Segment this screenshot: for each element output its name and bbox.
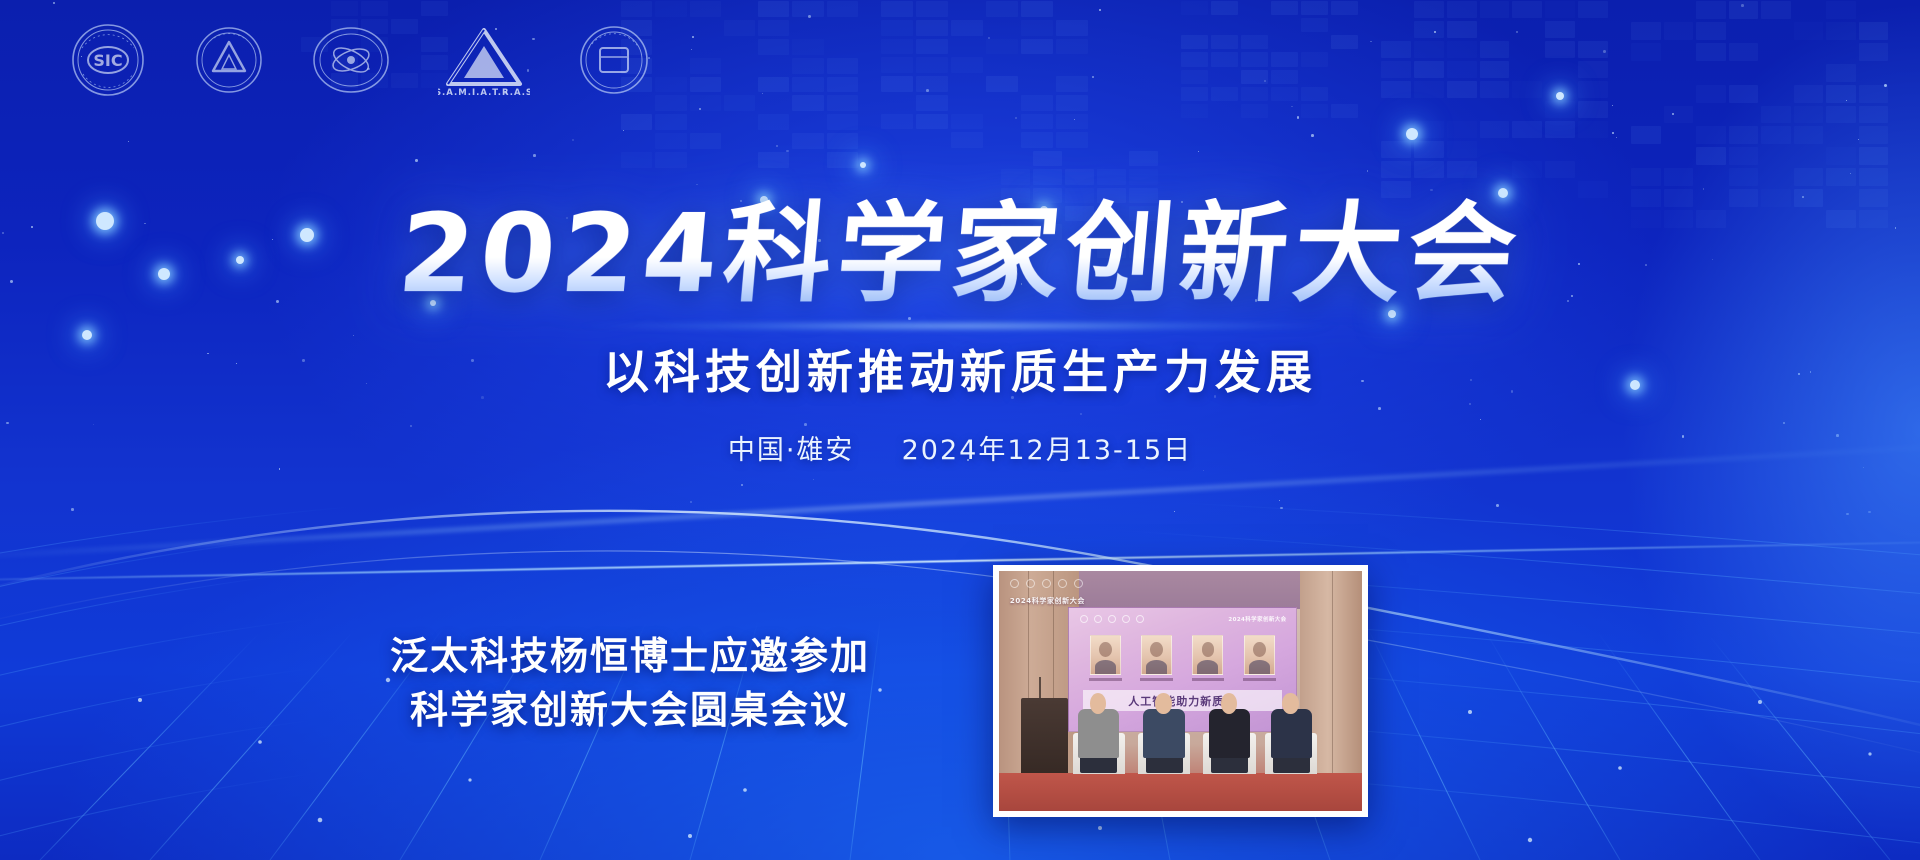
panelist-portrait bbox=[1090, 635, 1121, 675]
data-block bbox=[1729, 1, 1759, 19]
event-location: 中国·雄安 bbox=[728, 435, 855, 466]
data-block bbox=[1447, 81, 1477, 98]
data-block bbox=[1826, 106, 1856, 124]
light-particle bbox=[860, 162, 866, 168]
star-particle bbox=[1280, 507, 1282, 509]
star-particle bbox=[1297, 116, 1299, 118]
data-block bbox=[1480, 81, 1510, 98]
sic-emblem: SIC bbox=[70, 22, 146, 98]
panelist-card bbox=[1136, 635, 1177, 691]
head bbox=[1155, 693, 1171, 714]
panelist-card bbox=[1187, 635, 1228, 691]
star-particle bbox=[699, 108, 701, 110]
screen-brand-text: 2024科学家创新大会 bbox=[1228, 615, 1286, 623]
star-particle bbox=[1434, 31, 1436, 33]
data-block bbox=[1414, 41, 1444, 58]
data-block bbox=[1545, 161, 1575, 178]
data-block bbox=[1512, 1, 1542, 18]
data-block bbox=[1512, 121, 1542, 138]
data-block bbox=[1696, 43, 1726, 61]
star-particle bbox=[1846, 513, 1849, 516]
data-block bbox=[655, 152, 686, 168]
star-particle bbox=[808, 15, 811, 18]
data-block bbox=[758, 77, 789, 93]
star-particle bbox=[1741, 4, 1744, 7]
star-particle bbox=[415, 159, 418, 162]
data-block bbox=[1696, 22, 1726, 40]
data-block bbox=[1859, 22, 1889, 40]
event-date: 2024年12月13-15日 bbox=[902, 435, 1193, 466]
data-block bbox=[690, 133, 721, 149]
star-particle bbox=[533, 154, 536, 157]
light-particle bbox=[1556, 92, 1564, 100]
data-block bbox=[655, 77, 686, 93]
data-block bbox=[1447, 41, 1477, 58]
data-block bbox=[1181, 52, 1208, 66]
data-block bbox=[1578, 1, 1608, 18]
data-block bbox=[758, 20, 789, 36]
data-block bbox=[827, 77, 858, 93]
photo-content: 2024科学家创新大会 2024科学家创新大会 bbox=[999, 571, 1362, 811]
data-block bbox=[792, 133, 823, 149]
data-block bbox=[1065, 169, 1094, 184]
stage-logo-icon bbox=[1026, 579, 1035, 588]
data-block bbox=[1301, 18, 1328, 32]
panelist-portrait bbox=[1244, 635, 1275, 675]
data-block bbox=[951, 132, 983, 148]
conference-banner: SIC bbox=[0, 0, 1920, 860]
star-particle bbox=[1612, 105, 1613, 106]
star-particle bbox=[988, 37, 990, 39]
data-block bbox=[881, 1, 913, 17]
stage-logo-icon bbox=[1042, 579, 1051, 588]
star-particle bbox=[572, 139, 574, 141]
data-block bbox=[1761, 1, 1791, 19]
data-block bbox=[1181, 1, 1208, 15]
data-block bbox=[1545, 121, 1575, 138]
star-particle bbox=[1850, 173, 1851, 174]
data-block bbox=[1447, 21, 1477, 38]
screen-logo-icon bbox=[1136, 615, 1144, 623]
seated-panelist bbox=[1137, 693, 1191, 772]
data-block bbox=[827, 95, 858, 111]
data-block bbox=[1381, 81, 1411, 98]
roundtable-panel-photo: 2024科学家创新大会 2024科学家创新大会 bbox=[993, 565, 1368, 817]
screen-logo-icon bbox=[1122, 615, 1130, 623]
panelist-name-bar bbox=[1140, 678, 1173, 681]
data-block bbox=[690, 95, 721, 111]
data-block bbox=[1271, 52, 1298, 66]
data-block bbox=[1241, 87, 1268, 101]
atom-seal-emblem bbox=[312, 25, 390, 95]
data-block bbox=[1271, 1, 1298, 15]
data-block bbox=[1056, 39, 1088, 55]
data-block bbox=[1578, 121, 1608, 138]
star-particle bbox=[926, 89, 929, 92]
data-block bbox=[1729, 43, 1759, 61]
data-block bbox=[881, 114, 913, 130]
data-block bbox=[724, 20, 755, 36]
data-block bbox=[1826, 85, 1856, 103]
star-particle bbox=[1496, 504, 1499, 507]
data-block bbox=[881, 39, 913, 55]
data-block bbox=[1631, 43, 1661, 61]
title-underglow bbox=[580, 322, 1340, 330]
data-block bbox=[1056, 114, 1088, 130]
data-block bbox=[1414, 61, 1444, 78]
data-block bbox=[1056, 20, 1088, 36]
data-block bbox=[621, 1, 652, 17]
star-particle bbox=[1291, 106, 1292, 107]
panelist-portrait bbox=[1192, 635, 1223, 675]
data-block bbox=[1447, 1, 1477, 18]
data-block bbox=[1545, 41, 1575, 58]
data-block bbox=[1241, 104, 1268, 118]
data-block bbox=[1181, 104, 1208, 118]
data-block bbox=[916, 20, 948, 36]
data-block bbox=[916, 95, 948, 111]
data-block bbox=[916, 57, 948, 73]
data-block bbox=[1545, 1, 1575, 18]
data-block bbox=[1578, 181, 1608, 198]
data-block bbox=[1021, 114, 1053, 130]
data-block bbox=[1859, 43, 1889, 61]
data-block bbox=[1097, 169, 1126, 184]
data-block bbox=[1301, 87, 1328, 101]
data-block bbox=[1301, 104, 1328, 118]
data-block bbox=[758, 114, 789, 130]
data-block bbox=[1761, 106, 1791, 124]
data-block bbox=[1056, 95, 1088, 111]
data-block bbox=[1761, 126, 1791, 144]
star-particle bbox=[696, 184, 697, 185]
star-particle bbox=[1846, 100, 1847, 101]
data-block bbox=[1181, 35, 1208, 49]
star-particle bbox=[53, 2, 55, 4]
star-particle bbox=[786, 150, 788, 152]
data-block bbox=[827, 58, 858, 74]
star-particle bbox=[741, 484, 743, 486]
data-block bbox=[655, 95, 686, 111]
data-block bbox=[621, 152, 652, 168]
data-block bbox=[1664, 22, 1694, 40]
data-block bbox=[1826, 147, 1856, 165]
panelist-name-bar bbox=[1192, 678, 1225, 681]
data-block bbox=[1696, 1, 1726, 19]
wall-seam bbox=[1332, 571, 1333, 773]
data-block bbox=[1414, 161, 1444, 178]
triangle-seal-emblem bbox=[194, 25, 264, 95]
star-particle bbox=[1264, 80, 1266, 82]
star-particle bbox=[1370, 41, 1371, 42]
data-block bbox=[1271, 70, 1298, 84]
data-block bbox=[1794, 168, 1824, 186]
data-block bbox=[1826, 1, 1856, 19]
title-block: 2024科学家创新大会 以科技创新推动新质生产力发展 中国·雄安 2024年12… bbox=[0, 198, 1920, 467]
torso bbox=[1209, 709, 1250, 758]
star-particle bbox=[1430, 189, 1432, 191]
data-block bbox=[421, 1, 448, 16]
data-block bbox=[881, 76, 913, 92]
data-block bbox=[758, 152, 789, 168]
data-block bbox=[1021, 132, 1053, 148]
data-block bbox=[1241, 52, 1268, 66]
data-block bbox=[1331, 35, 1358, 49]
stage-logo-icon bbox=[1074, 579, 1083, 588]
screen-logo-row bbox=[1080, 615, 1144, 623]
data-block bbox=[1414, 21, 1444, 38]
data-block bbox=[1414, 121, 1444, 138]
data-block bbox=[1181, 87, 1208, 101]
caption-line-2: 科学家创新大会圆桌会议 bbox=[380, 684, 880, 738]
screen-logo-icon bbox=[1080, 615, 1088, 623]
data-block bbox=[951, 114, 983, 130]
star-particle bbox=[1858, 139, 1859, 140]
data-block bbox=[792, 39, 823, 55]
data-block bbox=[1447, 141, 1477, 158]
star-particle bbox=[1672, 113, 1674, 115]
data-block bbox=[1826, 22, 1856, 40]
data-block bbox=[1729, 147, 1759, 165]
data-block bbox=[1381, 61, 1411, 78]
star-particle bbox=[128, 141, 129, 142]
data-block bbox=[1301, 52, 1328, 66]
data-block bbox=[1729, 168, 1759, 186]
data-block bbox=[1512, 81, 1542, 98]
stage-banner-text: 2024科学家创新大会 bbox=[1010, 596, 1085, 606]
data-block bbox=[758, 39, 789, 55]
star-particle bbox=[691, 49, 692, 50]
star-particle bbox=[1203, 470, 1204, 471]
data-block bbox=[1056, 76, 1088, 92]
data-block bbox=[1631, 126, 1661, 144]
data-block bbox=[1545, 21, 1575, 38]
data-block bbox=[1414, 81, 1444, 98]
data-block bbox=[1480, 61, 1510, 78]
data-block bbox=[1414, 141, 1444, 158]
star-particle bbox=[692, 36, 694, 38]
data-block bbox=[792, 77, 823, 93]
star-particle bbox=[1279, 500, 1280, 501]
head bbox=[1282, 693, 1298, 714]
head bbox=[1221, 693, 1237, 714]
data-block bbox=[1001, 169, 1030, 184]
panelist-name-bar bbox=[1243, 678, 1276, 681]
data-block bbox=[1211, 52, 1238, 66]
data-block bbox=[1859, 126, 1889, 144]
horizon-glow bbox=[0, 540, 1920, 583]
data-block bbox=[1033, 169, 1062, 184]
data-block bbox=[1631, 168, 1661, 186]
star-particle bbox=[279, 468, 281, 470]
data-block bbox=[1729, 126, 1759, 144]
star-particle bbox=[1612, 132, 1615, 135]
data-block bbox=[1021, 95, 1053, 111]
data-block bbox=[1211, 1, 1238, 15]
screen-logo-icon bbox=[1108, 615, 1116, 623]
data-block bbox=[1211, 35, 1238, 49]
event-meta: 中国·雄安 2024年12月13-15日 bbox=[0, 428, 1920, 467]
data-block bbox=[1512, 161, 1542, 178]
data-block bbox=[1056, 132, 1088, 148]
data-block bbox=[361, 1, 388, 16]
data-block bbox=[1021, 1, 1053, 17]
star-particle bbox=[623, 130, 624, 131]
data-block bbox=[792, 58, 823, 74]
caption-line-1: 泛太科技杨恒博士应邀参加 bbox=[380, 630, 880, 684]
data-block bbox=[1447, 161, 1477, 178]
data-block bbox=[1331, 1, 1358, 15]
star-particle bbox=[1198, 151, 1199, 152]
data-block bbox=[1664, 106, 1694, 124]
data-block bbox=[951, 20, 983, 36]
star-particle bbox=[1516, 31, 1517, 32]
panelist-portrait-row bbox=[1085, 635, 1280, 691]
data-block bbox=[690, 77, 721, 93]
data-block bbox=[1578, 61, 1608, 78]
speaker-podium bbox=[1021, 698, 1068, 780]
data-block bbox=[1033, 151, 1062, 166]
star-particle bbox=[1884, 84, 1887, 87]
data-block bbox=[1664, 168, 1694, 186]
stage-logo-icon bbox=[1058, 579, 1067, 588]
data-block bbox=[827, 133, 858, 149]
data-block bbox=[1859, 147, 1889, 165]
panelist-card bbox=[1085, 635, 1126, 691]
data-block bbox=[1271, 87, 1298, 101]
panelist-card bbox=[1239, 635, 1280, 691]
star-particle bbox=[1703, 188, 1704, 189]
seated-panelist bbox=[1264, 693, 1318, 772]
data-block bbox=[655, 133, 686, 149]
data-block bbox=[1211, 87, 1238, 101]
delta-mark-label: S.A.M.I.A.T.R.A.S bbox=[438, 88, 530, 98]
panelist-name-bar bbox=[1089, 678, 1122, 681]
data-block bbox=[1447, 61, 1477, 78]
stage-floor bbox=[999, 773, 1362, 811]
data-block bbox=[1480, 41, 1510, 58]
data-block bbox=[1794, 85, 1824, 103]
data-block bbox=[1181, 70, 1208, 84]
data-block bbox=[1794, 22, 1824, 40]
data-block bbox=[827, 1, 858, 17]
star-particle bbox=[1868, 511, 1870, 513]
page-title: 2024科学家创新大会 bbox=[384, 198, 1537, 312]
data-block bbox=[1414, 1, 1444, 18]
data-block bbox=[986, 39, 1018, 55]
data-block bbox=[916, 1, 948, 17]
data-block bbox=[1696, 147, 1726, 165]
data-block bbox=[1381, 161, 1411, 178]
data-block bbox=[758, 1, 789, 17]
panelist-portrait bbox=[1141, 635, 1172, 675]
star-particle bbox=[1616, 137, 1617, 138]
star-particle bbox=[813, 479, 814, 480]
subtitle: 以科技创新推动新质生产力发展 bbox=[0, 336, 1920, 402]
data-block bbox=[655, 1, 686, 17]
torso bbox=[1078, 709, 1119, 758]
star-particle bbox=[690, 501, 692, 503]
star-particle bbox=[1367, 170, 1368, 171]
data-block bbox=[1631, 22, 1661, 40]
torso bbox=[1143, 709, 1184, 758]
data-block bbox=[881, 20, 913, 36]
delta-mark-emblem: S.A.M.I.A.T.R.A.S bbox=[438, 22, 530, 98]
svg-text:SIC: SIC bbox=[93, 51, 122, 70]
data-block bbox=[986, 1, 1018, 17]
stage-banner-logos bbox=[1010, 579, 1083, 588]
data-block bbox=[1729, 85, 1759, 103]
seated-panelist bbox=[1202, 693, 1256, 772]
data-block bbox=[1794, 106, 1824, 124]
shield-seal-emblem bbox=[578, 24, 650, 96]
data-block bbox=[1447, 121, 1477, 138]
data-block bbox=[1696, 85, 1726, 103]
data-block bbox=[724, 95, 755, 111]
star-particle bbox=[1092, 76, 1094, 78]
data-block bbox=[1331, 104, 1358, 118]
data-block bbox=[1696, 126, 1726, 144]
star-particle bbox=[762, 93, 763, 94]
data-block bbox=[827, 114, 858, 130]
star-particle bbox=[1603, 50, 1606, 53]
data-block bbox=[1480, 1, 1510, 18]
data-block bbox=[1381, 41, 1411, 58]
data-block bbox=[1826, 64, 1856, 82]
data-block bbox=[1826, 168, 1856, 186]
star-particle bbox=[1174, 511, 1175, 512]
data-block bbox=[881, 57, 913, 73]
data-block bbox=[1241, 35, 1268, 49]
data-block bbox=[1794, 126, 1824, 144]
data-block bbox=[1381, 141, 1411, 158]
data-block bbox=[827, 152, 858, 168]
stage-logo-icon bbox=[1010, 579, 1019, 588]
data-block bbox=[1021, 39, 1053, 55]
data-block bbox=[1129, 151, 1158, 166]
star-particle bbox=[776, 145, 777, 146]
star-particle bbox=[1074, 119, 1075, 120]
data-block bbox=[916, 114, 948, 130]
data-block bbox=[331, 1, 358, 16]
light-particle bbox=[1406, 128, 1418, 140]
torso bbox=[1271, 709, 1312, 758]
data-block bbox=[792, 1, 823, 17]
data-block bbox=[1578, 101, 1608, 118]
data-block bbox=[1578, 41, 1608, 58]
data-block bbox=[621, 114, 652, 130]
data-block bbox=[1578, 81, 1608, 98]
star-particle bbox=[1099, 9, 1101, 11]
data-block bbox=[1859, 85, 1889, 103]
data-block bbox=[690, 1, 721, 17]
screen-logo-icon bbox=[1094, 615, 1102, 623]
star-particle bbox=[1311, 134, 1314, 137]
data-block bbox=[1241, 70, 1268, 84]
data-block bbox=[916, 76, 948, 92]
data-block bbox=[792, 95, 823, 111]
data-block bbox=[1545, 101, 1575, 118]
data-block bbox=[916, 39, 948, 55]
data-block bbox=[1859, 106, 1889, 124]
data-block bbox=[951, 57, 983, 73]
data-block bbox=[1021, 20, 1053, 36]
caption-block: 泛太科技杨恒博士应邀参加 科学家创新大会圆桌会议 bbox=[380, 630, 880, 738]
data-block bbox=[1859, 168, 1889, 186]
data-block bbox=[986, 76, 1018, 92]
star-particle bbox=[71, 508, 74, 511]
data-block bbox=[655, 114, 686, 130]
